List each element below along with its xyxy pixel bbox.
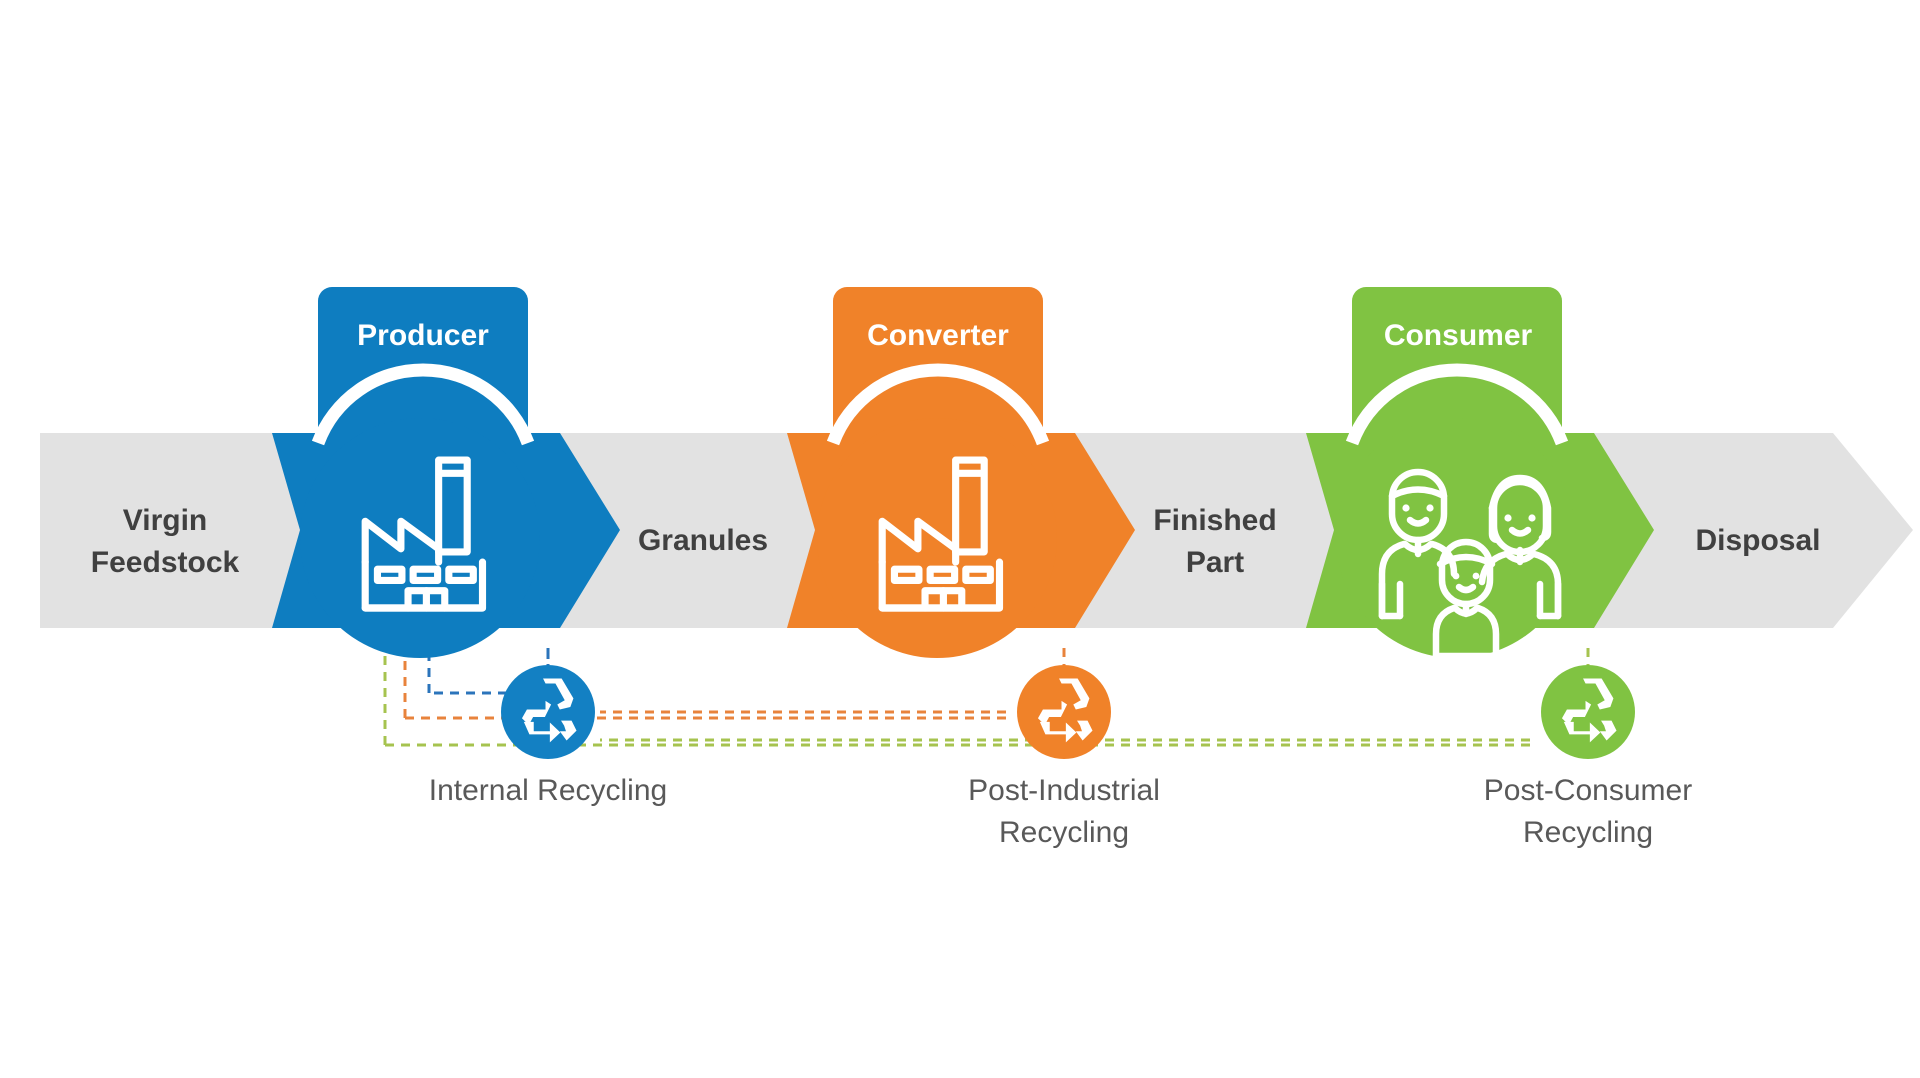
recycling-node-post-consumer-recycling[interactable]: Post-Consumer Recycling	[1484, 665, 1692, 849]
post-consumer-recycling-label-line1: Post-Consumer	[1484, 774, 1692, 807]
band-label-virgin-feedstock-line1: Virgin	[123, 504, 207, 537]
internal-recycling-label-line1: Internal Recycling	[429, 774, 667, 807]
producer-title: Producer	[357, 319, 489, 352]
band-label-finished-part-line2: Part	[1186, 546, 1244, 579]
post-consumer-recycling-label-line2: Recycling	[1523, 816, 1653, 849]
band-label-virgin-feedstock-line2: Feedstock	[91, 546, 240, 579]
converter-title: Converter	[867, 319, 1009, 352]
recycling-node-post-industrial-recycling[interactable]: Post-Industrial Recycling	[968, 665, 1160, 849]
post-industrial-recycling-label-line1: Post-Industrial	[968, 774, 1160, 807]
recycling-node-internal-recycling[interactable]: Internal Recycling	[429, 665, 667, 807]
consumer-title: Consumer	[1384, 319, 1533, 352]
stage-producer[interactable]: Producer	[272, 287, 620, 658]
stage-converter[interactable]: Converter	[787, 287, 1135, 658]
diagram-canvas: Virgin Feedstock Granules Finished Part …	[0, 0, 1920, 1078]
band-label-disposal: Disposal	[1695, 524, 1820, 557]
band-label-granules: Granules	[638, 524, 768, 557]
stage-consumer[interactable]: Consumer	[1306, 287, 1654, 658]
post-industrial-recycling-label-line2: Recycling	[999, 816, 1129, 849]
process-flow-diagram: Virgin Feedstock Granules Finished Part …	[0, 0, 1920, 1078]
band-label-finished-part-line1: Finished	[1153, 504, 1276, 537]
